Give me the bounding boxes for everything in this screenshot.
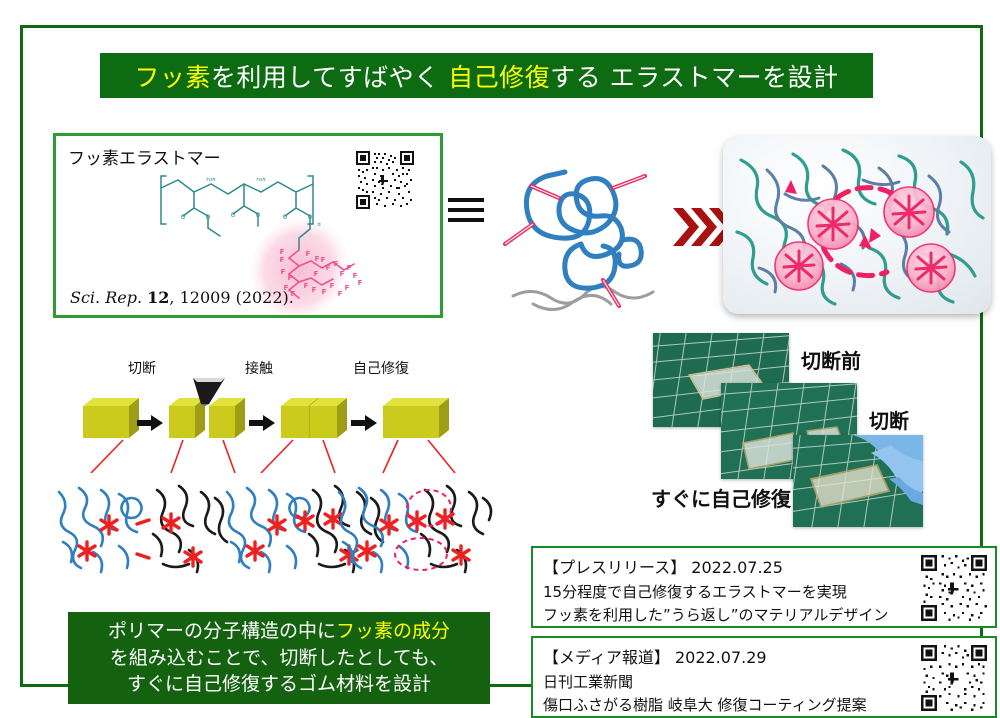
svg-text:F: F — [345, 284, 350, 292]
block-contacted — [281, 398, 347, 438]
svg-text:F: F — [304, 282, 309, 290]
title-segment-1: フッ素 — [134, 63, 211, 92]
polymer-coil-diagram — [503, 158, 693, 328]
media-coverage-line1: 【メディア報道】 2022.07.29 — [543, 644, 903, 668]
svg-text:F: F — [321, 256, 326, 264]
elastomer-panel: フッ素エラストマー — [53, 133, 443, 318]
svg-text:O: O — [206, 214, 211, 221]
svg-text:O: O — [256, 212, 261, 219]
svg-text:F: F — [288, 274, 293, 282]
block-intact — [83, 398, 139, 438]
summary-message-box: ポリマーの分子構造の中にフッ素の成分 を組み込むことで、切断したとしても、 すぐ… — [68, 612, 490, 704]
citation-volume: 12 — [147, 288, 169, 307]
photo-self-healing — [793, 435, 923, 527]
repeat-label-1: ran — [206, 177, 216, 183]
svg-text:F: F — [338, 290, 343, 298]
mol-panel-contacted — [227, 486, 383, 572]
svg-text:F: F — [280, 256, 285, 264]
poster-frame: フッ素を利用してすばやく 自己修復する エラストマーを設計 フッ素エラストマー — [20, 25, 983, 687]
svg-text:F: F — [281, 268, 286, 276]
summary-highlight: フッ素の成分 — [336, 620, 450, 642]
svg-text:F: F — [340, 270, 345, 278]
press-release-text: 【プレスリリース】 2022.07.25 15分程度で自己修復するエラストマーを… — [543, 554, 903, 627]
svg-text:O: O — [283, 214, 288, 221]
mol-panel-separated — [59, 486, 227, 572]
qr-code-elastomer[interactable] — [356, 151, 414, 209]
media-coverage-box: 【メディア報道】 2022.07.29 日刊工業新聞 傷口ふさがる樹脂 岐阜大 … — [531, 636, 997, 718]
repeat-label-2: ran — [256, 177, 266, 183]
title-segment-3: 自己修復 — [448, 63, 550, 92]
press-release-box: 【プレスリリース】 2022.07.25 15分程度で自己修復するエラストマーを… — [531, 546, 997, 628]
svg-text:F: F — [326, 264, 331, 272]
svg-text:F: F — [280, 248, 285, 256]
process-label-heal: 自己修復 — [353, 358, 409, 378]
qr-code-media-coverage[interactable] — [921, 645, 987, 711]
photo-label-cut: 切断 — [869, 405, 909, 434]
summary-line-2: を組み込むことで、切断したとしても、 — [110, 645, 449, 672]
svg-text:F: F — [315, 255, 320, 263]
photo-label-self-heal: すぐに自己修復 — [651, 483, 791, 512]
photo-label-before-cut: 切断前 — [801, 345, 861, 374]
summary-line-3: すぐに自己修復するゴム材料を設計 — [127, 671, 431, 698]
block-healed — [383, 398, 449, 438]
page-title: フッ素を利用してすばやく 自己修復する エラストマーを設計 — [134, 58, 838, 94]
title-segment-4: する エラストマーを設計 — [550, 63, 838, 92]
elastomer-citation: Sci. Rep. 12, 12009 (2022). — [70, 288, 294, 307]
svg-text:F: F — [322, 288, 327, 296]
svg-text:O: O — [231, 212, 236, 219]
media-coverage-line3: 傷口ふさがる樹脂 岐阜大 修復コーティング提案 — [543, 694, 903, 715]
equivalence-symbol — [448, 198, 484, 228]
svg-text:F: F — [312, 286, 317, 294]
polymer-network-illustration — [723, 136, 991, 314]
svg-text:F: F — [358, 279, 363, 287]
title-segment-2: を利用してすばやく — [211, 63, 448, 92]
svg-text:F: F — [306, 250, 311, 258]
citation-journal: Sci. Rep. — [70, 288, 142, 307]
citation-rest: , 12009 (2022). — [169, 288, 293, 307]
qr-code-press-release[interactable] — [921, 555, 987, 621]
media-coverage-text: 【メディア報道】 2022.07.29 日刊工業新聞 傷口ふさがる樹脂 岐阜大 … — [543, 644, 903, 717]
process-label-contact: 接触 — [245, 358, 273, 378]
summary-line-1: ポリマーの分子構造の中にフッ素の成分 — [108, 618, 450, 645]
svg-text:F: F — [334, 260, 339, 268]
media-coverage-line2: 日刊工業新聞 — [543, 671, 903, 692]
svg-text:n: n — [317, 222, 321, 228]
process-label-cut: 切断 — [128, 358, 156, 378]
svg-text:F: F — [330, 282, 335, 290]
svg-text:F: F — [314, 270, 319, 278]
molecular-network-row — [45, 468, 495, 588]
svg-text:O: O — [308, 214, 313, 221]
self-healing-process-diagram: 切断 接触 自己修復 — [83, 358, 483, 473]
press-release-line1: 【プレスリリース】 2022.07.25 — [543, 554, 903, 578]
svg-text:O: O — [181, 214, 186, 221]
photo-collage: 切断前 切断 すぐに自己修復 — [643, 333, 1000, 528]
mol-panel-healed — [339, 486, 491, 572]
press-release-line2: 15分程度で自己修復するエラストマーを実現 — [543, 581, 903, 602]
poster-title-bar: フッ素を利用してすばやく 自己修復する エラストマーを設計 — [100, 53, 873, 98]
press-release-line3: フッ素を利用した”うら返し”のマテリアルデザイン — [543, 604, 903, 625]
svg-text:F: F — [347, 264, 352, 272]
